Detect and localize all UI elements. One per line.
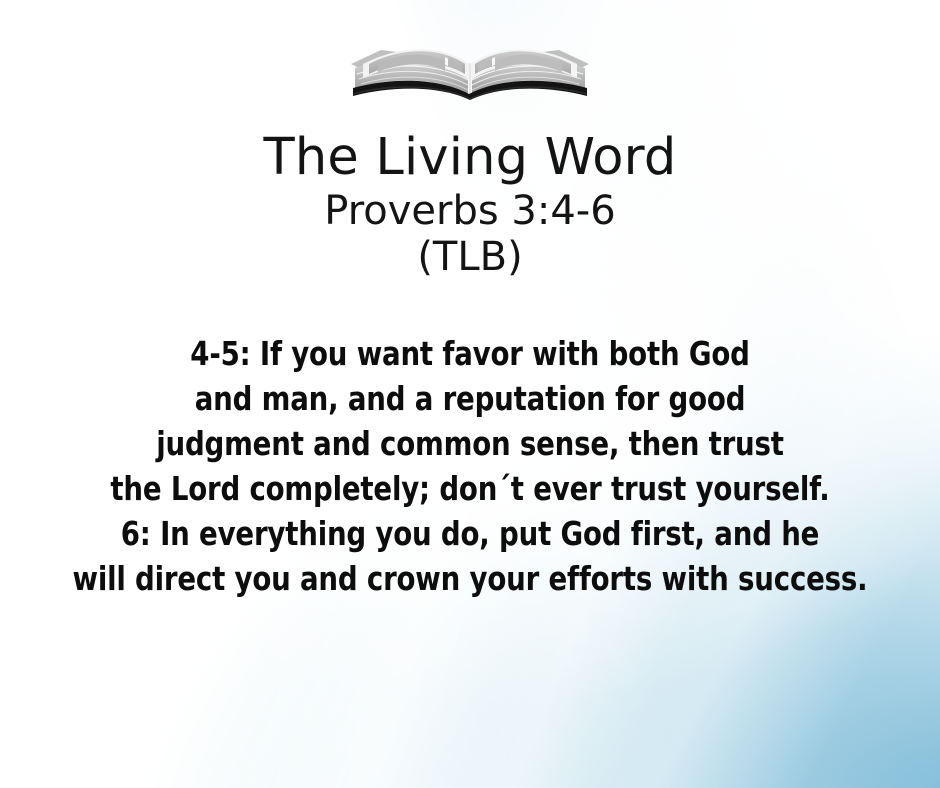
scripture-slide: The Living Word Proverbs 3:4-6 (TLB) 4-5… (0, 0, 940, 788)
verse-line: 4-5: If you want favor with both God (33, 331, 907, 376)
verse-line: the Lord completely; don´t ever trust yo… (33, 466, 907, 511)
verse-line: will direct you and crown your efforts w… (33, 556, 907, 601)
scripture-reference: Proverbs 3:4-6 (264, 191, 677, 231)
slide-content: The Living Word Proverbs 3:4-6 (TLB) 4-5… (0, 0, 940, 788)
verse-line: 6: In everything you do, put God first, … (33, 511, 907, 556)
bible-version: (TLB) (264, 237, 677, 277)
verse-text-block: 4-5: If you want favor with both God and… (0, 331, 940, 601)
verse-line: and man, and a reputation for good (33, 376, 907, 421)
open-book-icon (345, 24, 595, 110)
verse-line: judgment and common sense, then trust (33, 421, 907, 466)
title-block: The Living Word Proverbs 3:4-6 (TLB) (264, 132, 677, 277)
slide-title: The Living Word (264, 132, 677, 183)
